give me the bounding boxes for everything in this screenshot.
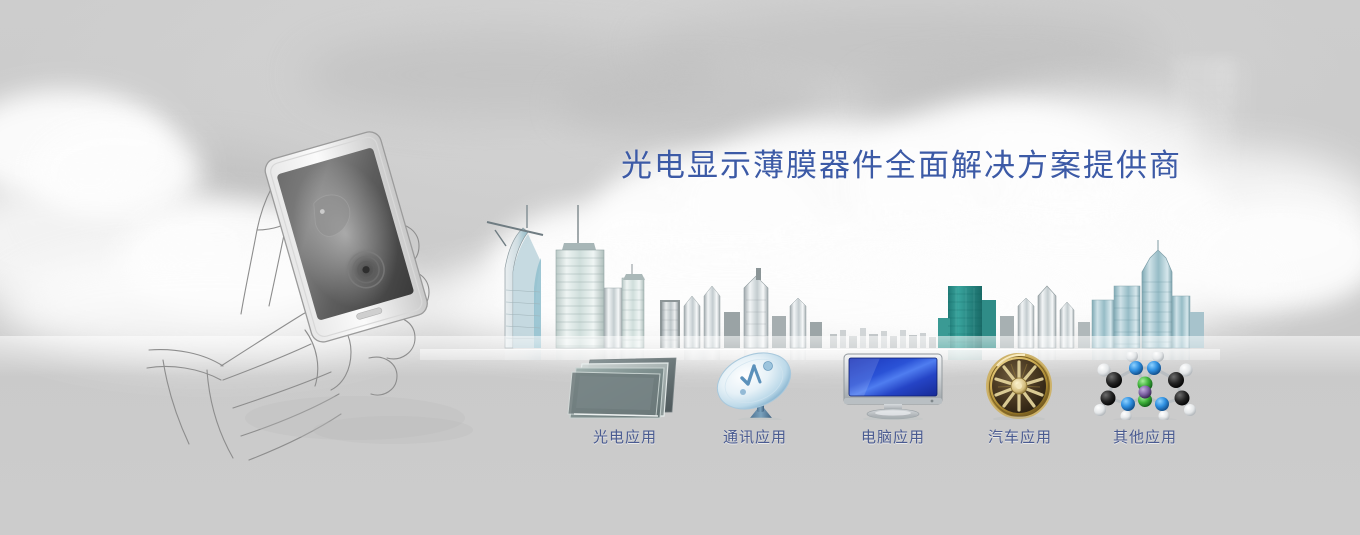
ground-line: [430, 349, 1190, 350]
main-glass-tower: [556, 205, 645, 348]
application-label: 电脑应用: [828, 426, 958, 447]
application-item-other[interactable]: 其他应用: [1080, 352, 1210, 447]
satellite-dish-icon: [690, 352, 820, 420]
right-glass-towers: [1092, 240, 1204, 348]
application-label: 光电应用: [560, 426, 690, 447]
computer-monitor-icon: [828, 352, 958, 420]
application-item-automotive[interactable]: 汽车应用: [955, 352, 1085, 447]
glass-film-panels-icon: [560, 352, 690, 420]
application-item-optoelectronic[interactable]: 光电应用: [560, 352, 690, 447]
application-label: 汽车应用: [955, 426, 1085, 447]
sail-tower: [487, 205, 543, 348]
molecule-model-icon: [1080, 352, 1210, 420]
smartphone-sketch: [262, 129, 430, 345]
application-icon-row: 光电应用: [0, 352, 1360, 467]
application-item-communication[interactable]: 通讯应用: [690, 352, 820, 447]
application-item-computer[interactable]: 电脑应用: [828, 352, 958, 447]
page-title: 光电显示薄膜器件全面解决方案提供商: [621, 140, 1182, 185]
application-label: 其他应用: [1080, 426, 1210, 447]
application-label: 通讯应用: [690, 426, 820, 447]
hero-banner: 光电显示薄膜器件全面解决方案提供商: [0, 0, 1360, 535]
car-wheel-rim-icon: [955, 352, 1085, 420]
